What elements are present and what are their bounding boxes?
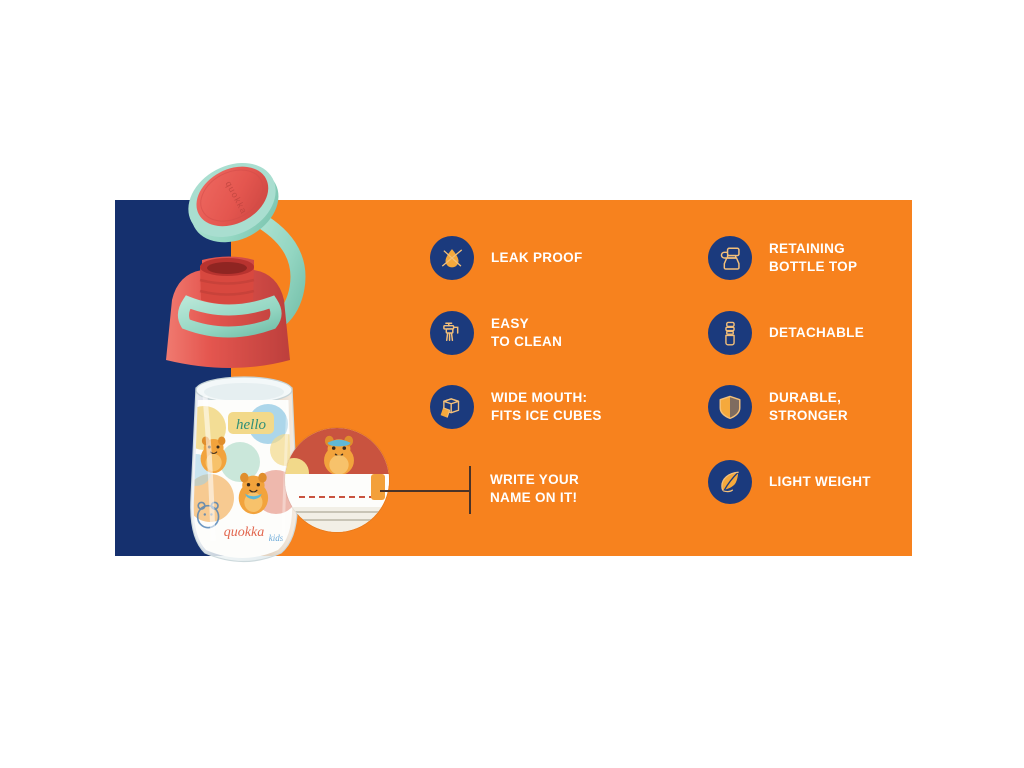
infographic-canvas: quokka hello (0, 0, 1024, 768)
feature-label: LIGHT WEIGHT (769, 473, 871, 491)
feature-detachable[interactable]: DETACHABLE (708, 311, 864, 355)
feature-label: WIDE MOUTH: FITS ICE CUBES (491, 389, 602, 425)
feature-light-weight[interactable]: LIGHT WEIGHT (708, 460, 871, 504)
retaining-bottle-top-icon (708, 236, 752, 280)
feather-icon (708, 460, 752, 504)
detachable-bottle-icon (708, 311, 752, 355)
magnifier-detail-circle (285, 428, 389, 532)
feature-label: LEAK PROOF (491, 249, 583, 267)
feature-label: RETAINING BOTTLE TOP (769, 240, 857, 276)
water-drop-crossed-icon (430, 236, 474, 280)
features-region: LEAK PROOF (430, 228, 900, 538)
ice-cubes-icon (430, 385, 474, 429)
magnifier-rule-2 (285, 519, 389, 521)
faucet-icon (430, 311, 474, 355)
feature-label: DETACHABLE (769, 324, 864, 342)
feature-retaining-bottle-top[interactable]: RETAINING BOTTLE TOP (708, 236, 857, 280)
feature-durable-stronger[interactable]: DURABLE, STRONGER (708, 385, 848, 429)
magnifier-bottom-band (285, 507, 389, 532)
feature-easy-to-clean[interactable]: EASY TO CLEAN (430, 311, 562, 355)
feature-wide-mouth[interactable]: WIDE MOUTH: FITS ICE CUBES (430, 385, 602, 429)
magnifier-rule-1 (285, 511, 389, 513)
feature-label: EASY TO CLEAN (491, 315, 562, 351)
feature-leak-proof[interactable]: LEAK PROOF (430, 236, 583, 280)
magnifier-orange-tab (371, 474, 385, 500)
shield-icon (708, 385, 752, 429)
magnifier-dashed-line (299, 496, 375, 498)
quokka-character-icon (317, 434, 361, 478)
feature-label: DURABLE, STRONGER (769, 389, 848, 425)
